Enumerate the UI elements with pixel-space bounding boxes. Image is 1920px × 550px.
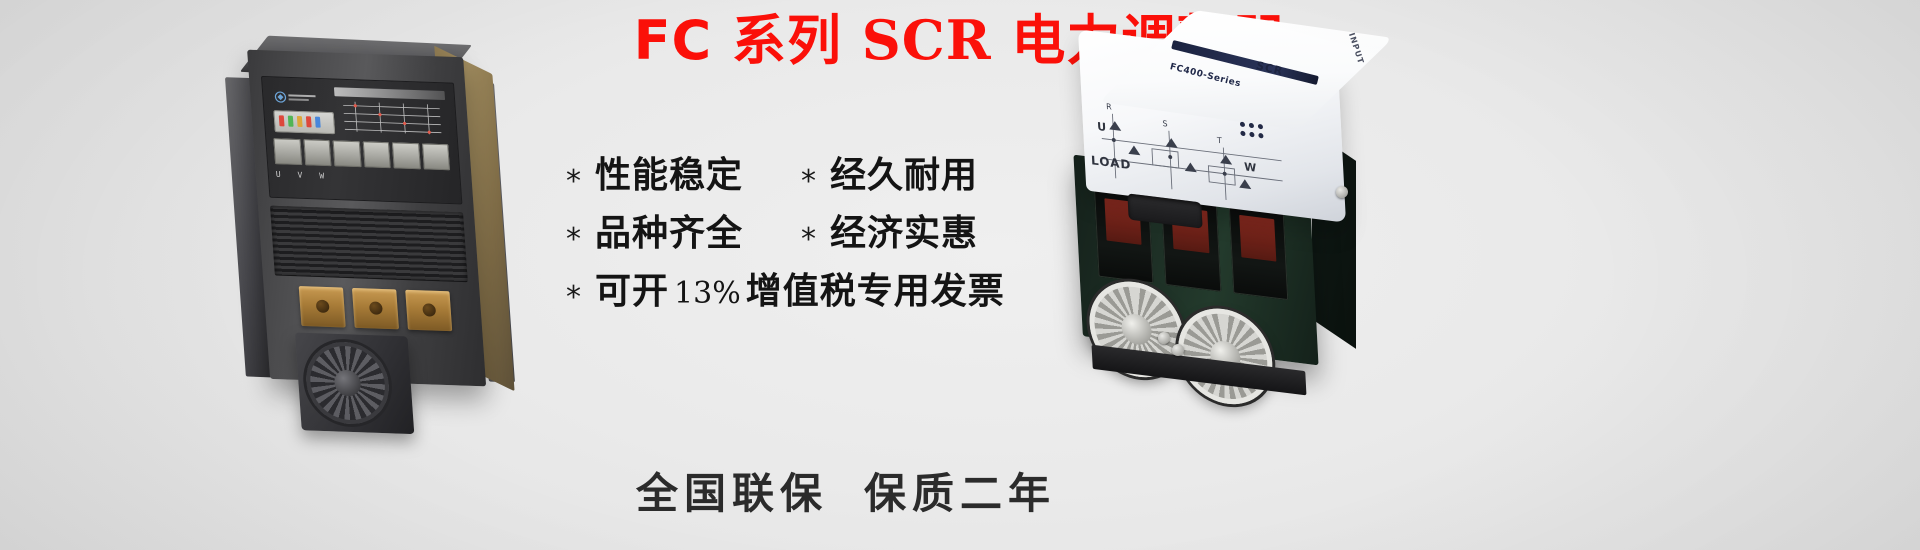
feature-row-1: * 性能稳定 * 经久耐用 (566, 146, 986, 204)
svg-text:R: R (1106, 102, 1112, 112)
left-unit-heatsink-vents (270, 206, 468, 283)
feature-label: 品种齐全 (595, 204, 743, 256)
feature-label: 性能稳定 (595, 146, 743, 198)
svg-text:S: S (1162, 119, 1168, 129)
left-unit-cooling-fan-icon (304, 341, 392, 426)
bullet-star-icon: * (566, 283, 581, 313)
slogan-two-year-guarantee: 保质二年 (864, 469, 1056, 518)
right-unit-status-dots (1240, 122, 1275, 148)
feature-item-economical: * 经济实惠 (801, 204, 978, 256)
right-unit-bolt (1158, 332, 1170, 344)
invoice-prefix: 可开 (595, 262, 669, 314)
feature-row-2: * 品种齐全 * 经济实惠 (566, 204, 986, 262)
feature-list: * 性能稳定 * 经久耐用 * 品种齐全 * 经济实惠 * 可开 13% (566, 146, 986, 320)
bullet-star-icon: * (566, 167, 581, 197)
bullet-star-icon: * (801, 225, 816, 255)
feature-label: 经济实惠 (830, 204, 978, 256)
feature-item-full-range: * 品种齐全 (566, 204, 743, 256)
headline-part-series: 系列 (732, 9, 842, 72)
feature-label: 经久耐用 (830, 146, 978, 198)
left-unit-power-terminals (279, 281, 471, 335)
left-unit-indicator-leds (273, 110, 335, 134)
invoice-suffix: 增值税专用发票 (746, 262, 1005, 314)
right-unit-phase-u-label: U (1097, 120, 1107, 134)
right-unit-bolt (1336, 186, 1348, 198)
headline-part-fc: FC (634, 9, 713, 72)
warranty-slogan: 全国联保保质二年 (566, 460, 1126, 521)
feature-item-stable-performance: * 性能稳定 (566, 146, 743, 198)
svg-text:T: T (1216, 136, 1222, 146)
slogan-nationwide-warranty: 全国联保 (636, 469, 828, 518)
feature-row-3: * 可开 13% 增值税专用发票 (566, 262, 986, 320)
left-product-image: U V W (219, 30, 545, 430)
manufacturer-logo-icon (274, 91, 319, 105)
feature-item-durable: * 经久耐用 (801, 146, 978, 198)
headline-part-scr: SCR (862, 8, 992, 72)
bullet-star-icon: * (566, 225, 581, 255)
feature-item-vat-invoice: * 可开 13% 增值税专用发票 (566, 262, 1005, 314)
right-product-image: FC400-Series SCR INPUT (1040, 28, 1460, 448)
right-unit-bolt (1172, 344, 1184, 356)
left-unit-fan-housing (295, 332, 414, 434)
banner-headline: FC 系列 SCR 电力调整器 (0, 8, 1920, 73)
right-unit-phase-w-label: W (1244, 160, 1257, 175)
bullet-star-icon: * (801, 167, 816, 197)
invoice-percent-value: 13% (669, 276, 746, 311)
left-unit-wiring-diagram-icon (339, 99, 446, 137)
product-banner: U V W FC 系列 SCR 电力调整器 * 性能稳定 * 经久耐用 * (0, 0, 1920, 550)
